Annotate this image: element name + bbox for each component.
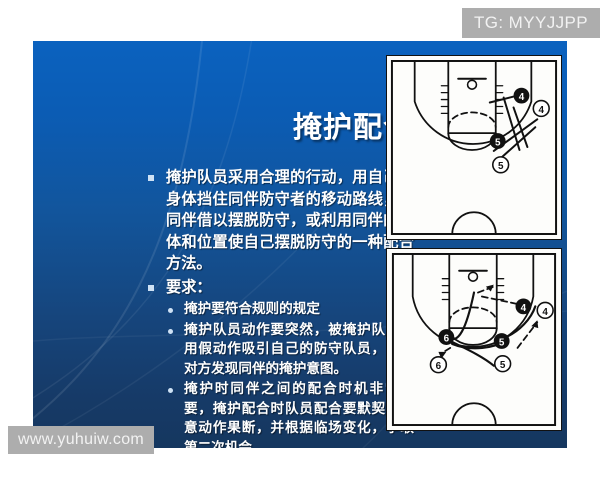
- square-bullet-icon: [148, 175, 154, 181]
- court-illustration-2: 4 5 6 4 5 6: [387, 249, 561, 430]
- bullet-text: 要求：: [166, 277, 414, 299]
- bullet-item: 要求：: [146, 277, 414, 299]
- svg-text:4: 4: [521, 303, 527, 314]
- slide-body: 掩护队员采用合理的行动，用自己的身体挡住同伴防守者的移动路线，使同伴借以摆脱防守…: [146, 167, 414, 448]
- svg-text:6: 6: [436, 361, 442, 372]
- court-illustration-1: 4 5 4 5: [387, 56, 561, 239]
- watermark-bottom-left: www.yuhuiw.com: [8, 426, 154, 454]
- svg-text:5: 5: [500, 360, 506, 371]
- basketball-half-court-diagram-2: 4 5 6 4 5 6: [386, 248, 562, 431]
- bullet-item: 掩护队员采用合理的行动，用自己的身体挡住同伴防守者的移动路线，使同伴借以摆脱防守…: [146, 167, 414, 275]
- sub-bullet-text: 掩护要符合规则的规定: [184, 300, 414, 320]
- svg-text:4: 4: [538, 105, 544, 116]
- svg-text:5: 5: [495, 138, 501, 149]
- sub-bullet-item: 掩护队员动作要突然，被掩护队员要用假动作吸引自己的防守队员，不让对方发现同伴的掩…: [146, 321, 414, 380]
- sub-bullet-text: 掩护队员动作要突然，被掩护队员要用假动作吸引自己的防守队员，不让对方发现同伴的掩…: [184, 321, 414, 380]
- basketball-half-court-diagram-1: 4 5 4 5: [386, 55, 562, 240]
- screenshot-canvas: 掩护配合 掩护队员采用合理的行动，用自己的身体挡住同伴防守者的移动路线，使同伴借…: [0, 0, 600, 480]
- svg-text:5: 5: [499, 337, 505, 348]
- sub-bullet-list: 掩护要符合规则的规定 掩护队员动作要突然，被掩护队员要用假动作吸引自己的防守队员…: [146, 300, 414, 448]
- round-bullet-icon: [168, 329, 173, 334]
- slide-title: 掩护配合: [153, 105, 413, 149]
- presentation-slide: 掩护配合 掩护队员采用合理的行动，用自己的身体挡住同伴防守者的移动路线，使同伴借…: [33, 41, 567, 448]
- square-bullet-icon: [148, 285, 154, 291]
- player-marker-filled: 4 5 6: [438, 298, 531, 348]
- round-bullet-icon: [168, 308, 173, 313]
- svg-text:4: 4: [542, 307, 548, 318]
- svg-text:4: 4: [519, 92, 525, 103]
- svg-text:6: 6: [444, 333, 450, 344]
- watermark-top-right: TG: MYYJJPP: [462, 8, 600, 38]
- sub-bullet-item: 掩护要符合规则的规定: [146, 300, 414, 320]
- round-bullet-icon: [168, 388, 173, 393]
- bullet-text: 掩护队员采用合理的行动，用自己的身体挡住同伴防守者的移动路线，使同伴借以摆脱防守…: [166, 167, 414, 275]
- sub-bullet-text: 掩护时同伴之间的配合时机非常重要，掩护配合时队员配合要默契，注意动作果断，并根据…: [184, 380, 414, 448]
- sub-bullet-item: 掩护时同伴之间的配合时机非常重要，掩护配合时队员配合要默契，注意动作果断，并根据…: [146, 380, 414, 448]
- svg-text:5: 5: [498, 161, 504, 172]
